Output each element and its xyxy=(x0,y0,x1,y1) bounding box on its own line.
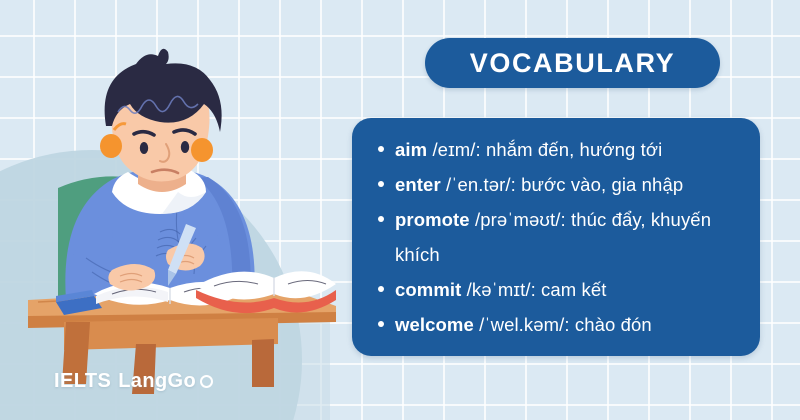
vocabulary-meaning: : cam kết xyxy=(531,279,607,300)
vocabulary-list: aim /eɪm/: nhắm đến, hướng tới enter /ˈe… xyxy=(366,132,744,342)
vocabulary-ipa: /ˈwel.kəm/ xyxy=(479,314,564,335)
desk-apron xyxy=(64,318,278,350)
vocabulary-meaning: : bước vào, gia nhập xyxy=(511,174,684,195)
vocabulary-ipa: /prəˈməʊt/ xyxy=(475,209,561,230)
list-item: promote /prəˈməʊt/: thúc đẩy, khuyến khí… xyxy=(366,202,744,272)
vocabulary-meaning: : chào đón xyxy=(564,314,651,335)
bullet-icon xyxy=(378,286,384,292)
bullet-icon xyxy=(378,146,384,152)
brand-name-secondary: LangGo xyxy=(118,370,196,393)
headphone-left-icon xyxy=(100,134,122,158)
poster-canvas: VOCABULARY aim /eɪm/: nhắm đến, hướng tớ… xyxy=(0,0,800,420)
vocabulary-ipa: /ˈen.tər/ xyxy=(446,174,511,195)
vocabulary-ipa: /eɪm/ xyxy=(432,139,475,160)
bullet-icon xyxy=(378,216,384,222)
student-illustration xyxy=(0,0,340,420)
vocabulary-word: aim xyxy=(395,139,427,160)
circle-icon xyxy=(200,375,213,388)
bullet-icon xyxy=(378,321,384,327)
desk-leg-right xyxy=(252,339,274,387)
list-item: commit /kəˈmɪt/: cam kết xyxy=(366,272,744,307)
headphone-right-icon xyxy=(191,138,213,162)
vocabulary-word: enter xyxy=(395,174,441,195)
vocabulary-meaning: : nhắm đến, hướng tới xyxy=(476,139,663,160)
brand-name-primary: IELTS xyxy=(54,370,111,393)
bullet-icon xyxy=(378,181,384,187)
vocabulary-panel: aim /eɪm/: nhắm đến, hướng tới enter /ˈe… xyxy=(352,118,760,356)
vocabulary-word: promote xyxy=(395,209,470,230)
list-item: enter /ˈen.tər/: bước vào, gia nhập xyxy=(366,167,744,202)
brand-logo: IELTS LangGo xyxy=(54,370,213,393)
list-item: welcome /ˈwel.kəm/: chào đón xyxy=(366,307,744,342)
vocabulary-word: commit xyxy=(395,279,461,300)
page-title: VOCABULARY xyxy=(470,48,676,79)
eye-right xyxy=(181,141,189,153)
vocabulary-title-pill: VOCABULARY xyxy=(425,38,720,88)
vocabulary-word: welcome xyxy=(395,314,474,335)
list-item: aim /eɪm/: nhắm đến, hướng tới xyxy=(366,132,744,167)
eye-left xyxy=(140,142,148,154)
vocabulary-ipa: /kəˈmɪt/ xyxy=(467,279,531,300)
